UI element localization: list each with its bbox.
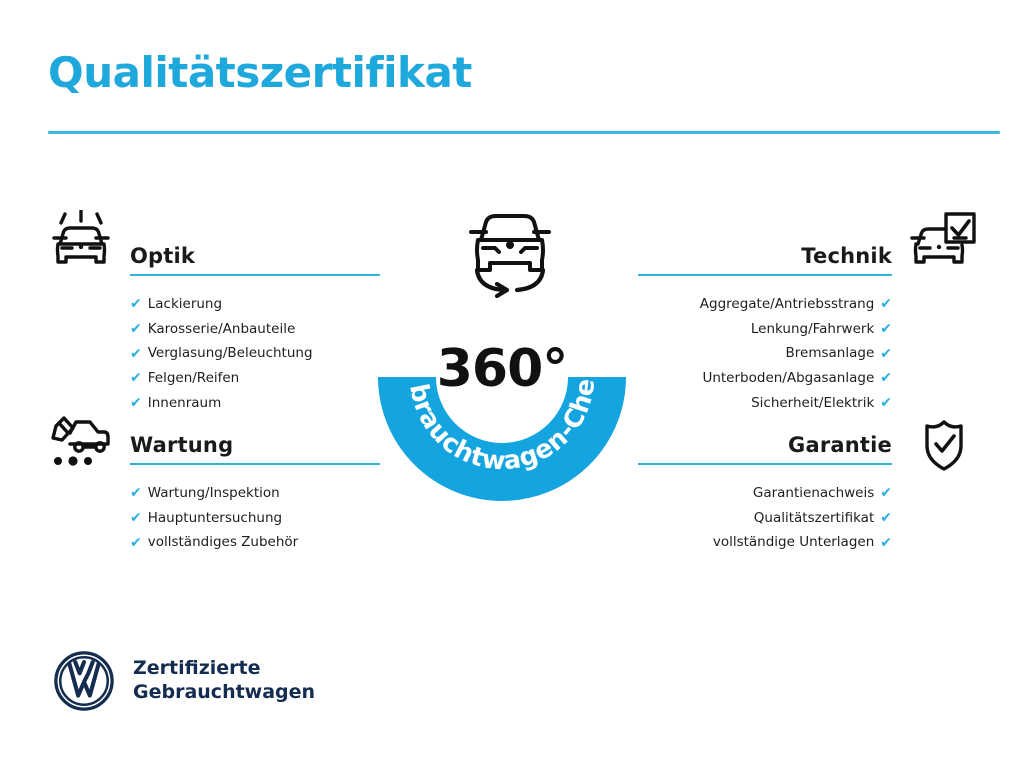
check-icon: ✔ — [880, 486, 892, 500]
list-item: vollständige Unterlagen ✔ — [638, 530, 892, 555]
list-item-label: Aggregate/Antriebsstrang — [700, 292, 875, 317]
section-wartung-title: Wartung — [130, 433, 233, 457]
section-wartung-list: ✔ Wartung/Inspektion ✔ Hauptuntersuchung… — [130, 481, 380, 555]
list-item-label: Karosserie/Anbauteile — [148, 317, 296, 342]
footer-brand: Zertifizierte Gebrauchtwagen — [53, 650, 315, 712]
list-item: Bremsanlage ✔ — [638, 341, 892, 366]
list-item-label: Lackierung — [148, 292, 222, 317]
certificate-page: Qualitätszertifikat Optik ✔ Lackierung — [0, 0, 1024, 768]
car-front-lights-icon — [46, 210, 116, 272]
check-icon: ✔ — [130, 371, 142, 385]
check-icon: ✔ — [130, 297, 142, 311]
check-icon: ✔ — [880, 297, 892, 311]
section-optik-divider — [130, 274, 380, 276]
list-item: ✔ Innenraum — [130, 391, 380, 416]
section-garantie-list: Garantienachweis ✔ Qualitätszertifikat ✔… — [638, 481, 892, 555]
check-icon: ✔ — [880, 396, 892, 410]
section-optik-title: Optik — [130, 244, 195, 268]
section-garantie-title: Garantie — [788, 433, 892, 457]
list-item-label: vollständiges Zubehör — [148, 530, 298, 555]
section-garantie-header: Garantie — [638, 425, 892, 465]
brand-line-1: Zertifizierte — [133, 657, 315, 681]
section-technik-title: Technik — [801, 244, 892, 268]
section-garantie-divider — [638, 463, 892, 465]
section-wartung-divider — [130, 463, 380, 465]
list-item-label: Garantienachweis — [753, 481, 874, 506]
list-item: Qualitätszertifikat ✔ — [638, 506, 892, 531]
list-item-label: Bremsanlage — [786, 341, 875, 366]
list-item: Garantienachweis ✔ — [638, 481, 892, 506]
list-item: ✔ Karosserie/Anbauteile — [130, 317, 380, 342]
list-item: ✔ Hauptuntersuchung — [130, 506, 380, 531]
header-divider — [48, 131, 1000, 134]
section-technik: Technik Aggregate/Antriebsstrang ✔ Lenku… — [638, 236, 892, 416]
list-item-label: Hauptuntersuchung — [148, 506, 282, 531]
page-title: Qualitätszertifikat — [48, 52, 472, 94]
check-icon: ✔ — [880, 322, 892, 336]
list-item-label: Qualitätszertifikat — [754, 506, 875, 531]
check-icon: ✔ — [130, 511, 142, 525]
check-icon: ✔ — [130, 536, 142, 550]
list-item: ✔ vollständiges Zubehör — [130, 530, 380, 555]
check-icon: ✔ — [130, 347, 142, 361]
list-item-label: Sicherheit/Elektrik — [751, 391, 874, 416]
section-optik-list: ✔ Lackierung ✔ Karosserie/Anbauteile ✔ V… — [130, 292, 380, 416]
section-wartung: Wartung ✔ Wartung/Inspektion ✔ Hauptunte… — [130, 425, 380, 555]
brand-text: Zertifizierte Gebrauchtwagen — [133, 657, 315, 705]
list-item-label: Innenraum — [148, 391, 222, 416]
list-item-label: Wartung/Inspektion — [148, 481, 280, 506]
list-item-label: vollständige Unterlagen — [713, 530, 874, 555]
car-checkbox-icon — [908, 210, 978, 272]
check-icon: ✔ — [880, 536, 892, 550]
check-icon: ✔ — [880, 371, 892, 385]
car-rotate-icon — [455, 198, 565, 303]
check-icon: ✔ — [130, 322, 142, 336]
list-item: Aggregate/Antriebsstrang ✔ — [638, 292, 892, 317]
list-item: Lenkung/Fahrwerk ✔ — [638, 317, 892, 342]
section-optik: Optik ✔ Lackierung ✔ Karosserie/Anbautei… — [130, 236, 380, 416]
list-item-label: Lenkung/Fahrwerk — [751, 317, 874, 342]
list-item-label: Verglasung/Beleuchtung — [148, 341, 313, 366]
list-item-label: Felgen/Reifen — [148, 366, 240, 391]
brand-line-2: Gebrauchtwagen — [133, 681, 315, 705]
check-icon: ✔ — [880, 511, 892, 525]
check-icon: ✔ — [130, 486, 142, 500]
list-item: Sicherheit/Elektrik ✔ — [638, 391, 892, 416]
section-technik-header: Technik — [638, 236, 892, 276]
section-technik-list: Aggregate/Antriebsstrang ✔ Lenkung/Fahrw… — [638, 292, 892, 416]
shield-check-icon — [912, 414, 982, 476]
check-icon: ✔ — [130, 396, 142, 410]
list-item: ✔ Lackierung — [130, 292, 380, 317]
volkswagen-logo — [53, 650, 115, 712]
service-pen-car-icon — [46, 414, 116, 476]
list-item: Unterboden/Abgasanlage ✔ — [638, 366, 892, 391]
section-technik-divider — [638, 274, 892, 276]
list-item-label: Unterboden/Abgasanlage — [702, 366, 874, 391]
list-item: ✔ Felgen/Reifen — [130, 366, 380, 391]
list-item: ✔ Verglasung/Beleuchtung — [130, 341, 380, 366]
check-icon: ✔ — [880, 347, 892, 361]
section-optik-header: Optik — [130, 236, 380, 276]
section-wartung-header: Wartung — [130, 425, 380, 465]
list-item: ✔ Wartung/Inspektion — [130, 481, 380, 506]
section-garantie: Garantie Garantienachweis ✔ Qualitätszer… — [638, 425, 892, 555]
